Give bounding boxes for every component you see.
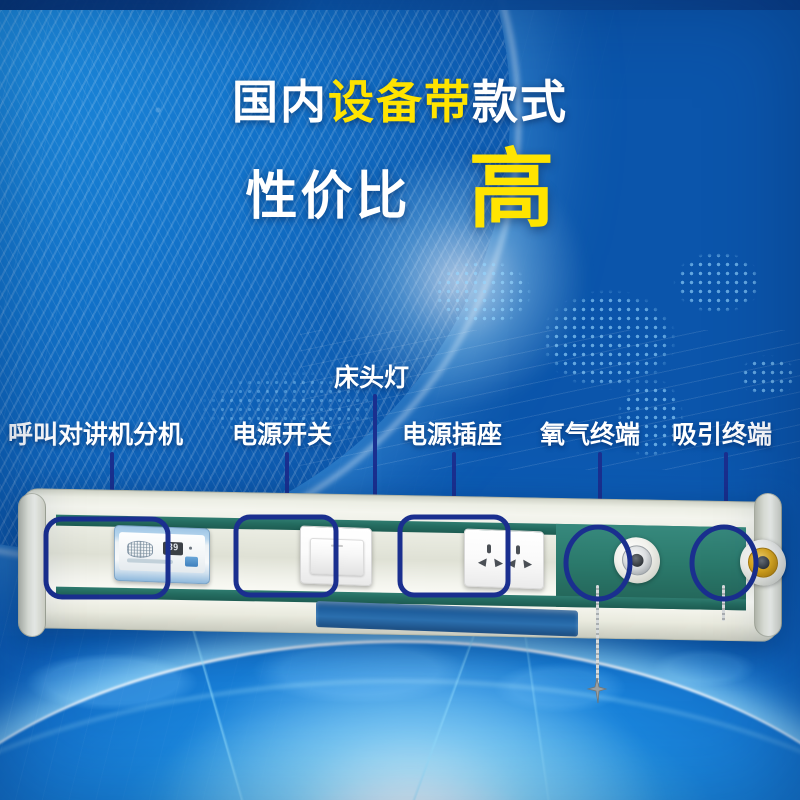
switch-rocker[interactable] bbox=[310, 538, 364, 576]
intercom-faceplate: 39 bbox=[119, 532, 205, 573]
suction-outlet-port-icon bbox=[757, 556, 770, 569]
headline-part-1: 国内 bbox=[232, 75, 328, 129]
switch-mark-icon bbox=[331, 545, 343, 547]
panel-end-cap-left bbox=[18, 493, 46, 638]
headline-line-1: 国内设备带款式 bbox=[0, 78, 800, 126]
headline-block: 国内设备带款式 性价比 高 bbox=[0, 78, 800, 232]
panel-face: 39 bbox=[56, 495, 746, 636]
headline-emphasis: 高 bbox=[469, 150, 555, 232]
callout-label-suction-outlet: 吸引终端 bbox=[672, 415, 772, 451]
socket-pin-slot-b2 bbox=[491, 559, 503, 570]
intercom-label-strip bbox=[127, 558, 173, 564]
device-intercom[interactable]: 39 bbox=[114, 525, 210, 585]
oxygen-pull-cord bbox=[596, 585, 599, 685]
socket-pin-slot-a2 bbox=[516, 545, 520, 554]
status-led-icon bbox=[189, 547, 192, 550]
socket-pin-slot-b1 bbox=[478, 558, 490, 569]
headline-line-2: 性价比 bbox=[245, 154, 410, 229]
socket-pin-slot-c1 bbox=[507, 559, 519, 570]
headline-part-2: 设备带 bbox=[328, 75, 472, 129]
headline-part-3: 款式 bbox=[472, 75, 568, 129]
oxygen-outlet-port-icon bbox=[631, 554, 644, 567]
callout-label-bed-lamp: 床头灯 bbox=[334, 358, 409, 394]
intercom-call-button[interactable] bbox=[185, 556, 198, 566]
pull-cord-hook-icon bbox=[586, 678, 608, 704]
device-power-switch[interactable] bbox=[300, 525, 372, 586]
promo-banner: 国内设备带款式 性价比 高 呼叫对讲机分机 电源开关 床头灯 电源插座 氧气终端… bbox=[0, 0, 800, 800]
suction-outlet-ring bbox=[748, 547, 778, 578]
socket-pin-slot-c2 bbox=[520, 560, 532, 571]
speaker-grille-icon bbox=[127, 540, 153, 558]
bed-head-unit-panel: 39 bbox=[20, 495, 780, 635]
intercom-display: 39 bbox=[163, 542, 183, 556]
callout-label-oxygen-outlet: 氧气终端 bbox=[540, 415, 640, 451]
device-suction-outlet[interactable] bbox=[740, 539, 786, 587]
socket-pin-slot-a1 bbox=[487, 544, 491, 553]
callout-label-power-switch: 电源开关 bbox=[232, 415, 332, 451]
device-oxygen-outlet[interactable] bbox=[614, 536, 660, 584]
callout-label-intercom: 呼叫对讲机分机 bbox=[8, 415, 183, 451]
top-edge-band bbox=[0, 0, 800, 10]
device-power-socket[interactable] bbox=[464, 528, 544, 589]
oxygen-outlet-ring bbox=[622, 545, 652, 576]
suction-pull-cord bbox=[722, 585, 725, 621]
headline-line-2-row: 性价比 高 bbox=[0, 150, 800, 232]
callout-label-power-socket: 电源插座 bbox=[402, 415, 502, 451]
